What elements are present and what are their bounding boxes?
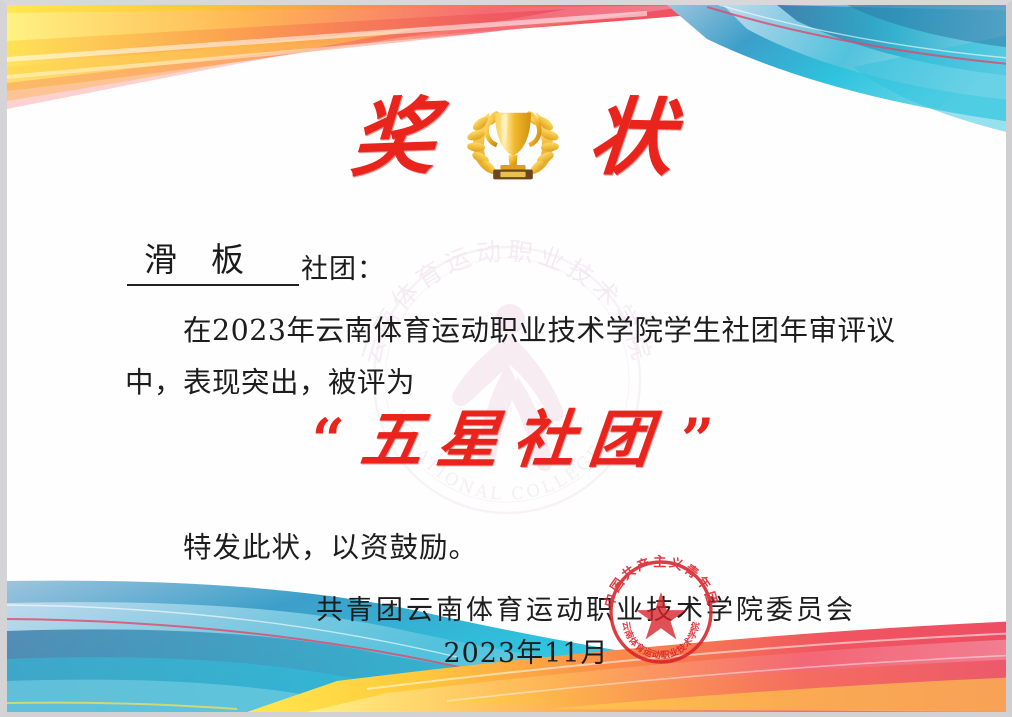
issuing-organization: 共青团云南体育运动职业技术学院委员会 bbox=[7, 588, 1005, 627]
title-char-jiang: 奖 bbox=[349, 95, 440, 182]
recipient-line: 滑板 社团： bbox=[127, 233, 385, 286]
award-certificate: 云南体育运动职业技术学院 VOCATIONAL COLLEGE OF 奖 bbox=[0, 0, 1012, 717]
closing-statement: 特发此状，以资鼓励。 bbox=[183, 525, 478, 566]
recipient-suffix-label: 社团： bbox=[301, 247, 385, 286]
certificate-paper: 云南体育运动职业技术学院 VOCATIONAL COLLEGE OF 奖 bbox=[7, 5, 1006, 712]
issue-date: 2023年11月 bbox=[7, 631, 1005, 670]
certificate-content: 奖 bbox=[7, 5, 1006, 712]
award-name-row: “ 五星社团 ” bbox=[7, 407, 1006, 472]
recipient-name: 滑板 bbox=[127, 233, 299, 286]
close-quote-mark: ” bbox=[681, 411, 714, 469]
award-name: 五星社团 bbox=[348, 407, 679, 472]
certificate-title: 奖 bbox=[7, 83, 1006, 193]
open-quote-mark: “ bbox=[312, 411, 345, 469]
body-paragraph: 在2023年云南体育运动职业技术学院学生社团年审评议中，表现突出，被评为 bbox=[125, 305, 915, 409]
title-char-zhuang: 状 bbox=[585, 95, 678, 180]
signature-block: 共青团云南体育运动职业技术学院委员会 2023年11月 bbox=[7, 588, 1006, 670]
trophy-icon bbox=[459, 92, 567, 184]
